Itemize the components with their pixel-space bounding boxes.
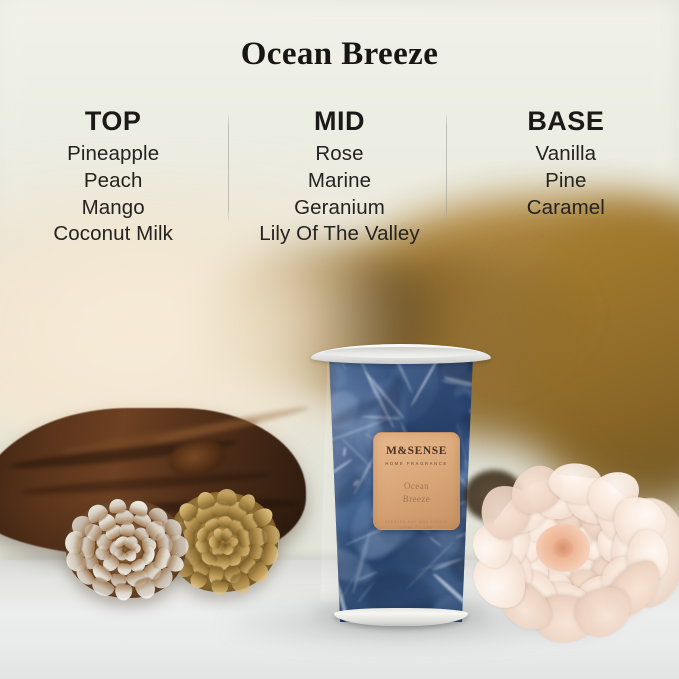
fragrance-notes-columns: TOP Pineapple Peach Mango Coconut Milk M… <box>0 107 679 257</box>
label-scent-line-1: Ocean <box>403 480 430 493</box>
note-item: Pineapple <box>0 141 226 168</box>
label-brand-tagline: HOME FRAGRANCE <box>385 461 448 466</box>
pinecone-frosted <box>66 500 186 598</box>
marble-vein-streak <box>473 398 488 448</box>
note-item: Lily Of The Valley <box>226 221 452 248</box>
candle-label: M&SENSE HOME FRAGRANCE Ocean Breeze SCEN… <box>373 432 460 530</box>
note-item: Pine <box>453 168 679 195</box>
note-item: Geranium <box>226 195 452 222</box>
label-fine-line-1: SCENTED SOY WAX CANDLE <box>385 519 449 525</box>
rose-core-center <box>552 538 574 558</box>
note-item: Marine <box>226 168 452 195</box>
note-item: Coconut Milk <box>0 221 226 248</box>
note-item: Caramel <box>453 195 679 222</box>
notes-column-mid: MID Rose Marine Geranium Lily Of The Val… <box>226 107 452 257</box>
note-item: Rose <box>226 141 452 168</box>
pinecone-scale <box>216 489 237 506</box>
label-brand: M&SENSE <box>386 446 447 458</box>
page-title: Ocean Breeze <box>0 36 679 73</box>
note-item: Vanilla <box>453 141 679 168</box>
notes-column-top: TOP Pineapple Peach Mango Coconut Milk <box>0 107 226 257</box>
rose-flower <box>470 462 679 652</box>
note-item: Peach <box>0 168 226 195</box>
notes-heading: TOP <box>0 107 226 135</box>
label-scent-name: Ocean Breeze <box>403 480 430 506</box>
candle-highlight <box>320 362 356 602</box>
marble-vein-streak <box>470 439 488 443</box>
label-fine-print: SCENTED SOY WAX CANDLE 100ML / 3.4 OZ <box>385 519 449 531</box>
notes-heading: BASE <box>453 107 679 135</box>
product-infographic: M&SENSE HOME FRAGRANCE Ocean Breeze SCEN… <box>0 0 679 679</box>
notes-heading: MID <box>226 107 452 135</box>
label-scent-line-2: Breeze <box>403 493 430 506</box>
notes-column-base: BASE Vanilla Pine Caramel <box>453 107 679 257</box>
pinecone-scale <box>114 583 132 600</box>
candle-rim-inner <box>324 347 478 358</box>
marble-dark-pocket <box>459 408 488 437</box>
note-item: Mango <box>0 195 226 222</box>
label-fine-line-2: 100ML / 3.4 OZ <box>385 525 449 531</box>
